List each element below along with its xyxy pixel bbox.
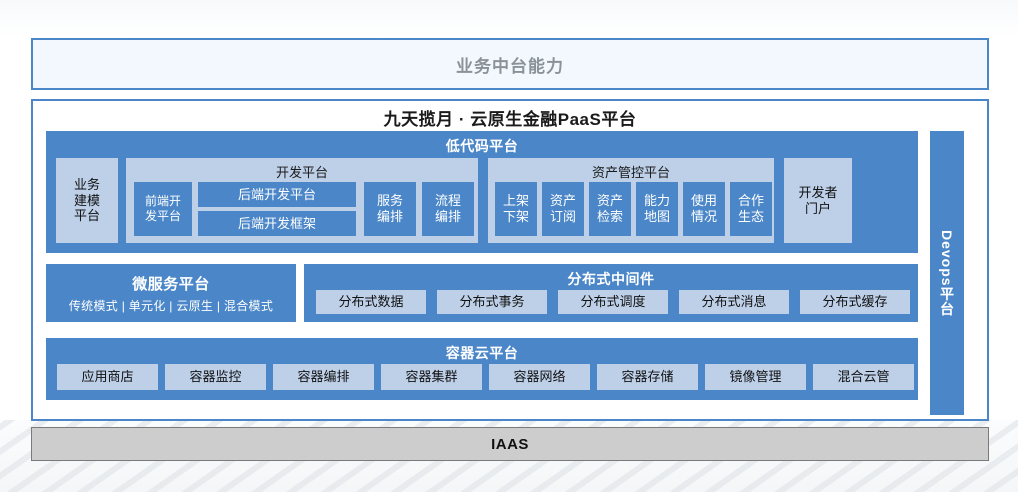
- frontend-dev-line-2: 发平台: [145, 209, 181, 224]
- business-modeling-line-2: 建模: [74, 193, 100, 209]
- container-item-app-store-label: 应用商店: [81, 369, 133, 385]
- frontend-dev-line-1: 前端开: [145, 194, 181, 209]
- asset-item-ecosystem-line-2: 生态: [738, 209, 764, 225]
- business-modeling-line-3: 平台: [74, 208, 100, 224]
- middleware-item-transaction-label: 分布式事务: [459, 294, 524, 310]
- middleware-item-data[interactable]: 分布式数据: [316, 290, 426, 314]
- service-orchestration-box[interactable]: 服务 编排: [364, 182, 416, 236]
- middleware-item-transaction[interactable]: 分布式事务: [437, 290, 547, 314]
- service-orchestration-line-1: 服务: [377, 193, 403, 209]
- container-item-image-management-label: 镜像管理: [729, 369, 781, 385]
- microservice-platform-subtitle: 传统模式 | 单元化 | 云原生 | 混合模式: [69, 297, 273, 314]
- container-item-storage[interactable]: 容器存储: [597, 364, 698, 390]
- devops-platform-bar[interactable]: Devops平台: [930, 131, 964, 415]
- asset-item-ecosystem[interactable]: 合作 生态: [730, 182, 772, 236]
- asset-item-capability-map[interactable]: 能力 地图: [636, 182, 678, 236]
- developer-portal-line-1: 开发者: [798, 185, 837, 201]
- middleware-item-message[interactable]: 分布式消息: [679, 290, 789, 314]
- container-cloud-platform-title: 容器云平台: [46, 343, 918, 363]
- middleware-item-scheduling[interactable]: 分布式调度: [558, 290, 668, 314]
- distributed-middleware-title: 分布式中间件: [304, 269, 918, 289]
- container-item-network-label: 容器网络: [513, 369, 565, 385]
- developer-portal-line-2: 门户: [805, 201, 831, 217]
- backend-dev-platform-box[interactable]: 后端开发平台: [198, 182, 356, 207]
- business-modeling-platform-box[interactable]: 业务 建模 平台: [56, 158, 118, 243]
- middleware-item-cache-label: 分布式缓存: [822, 294, 887, 310]
- middleware-item-cache[interactable]: 分布式缓存: [800, 290, 910, 314]
- frontend-dev-platform-box[interactable]: 前端开 发平台: [134, 182, 192, 236]
- container-item-hybrid-cloud[interactable]: 混合云管: [813, 364, 914, 390]
- developer-portal-box[interactable]: 开发者 门户: [784, 158, 852, 243]
- asset-item-shelf-line-1: 上架: [503, 193, 529, 209]
- asset-item-subscription[interactable]: 资产 订阅: [542, 182, 584, 236]
- container-item-network[interactable]: 容器网络: [489, 364, 590, 390]
- container-item-app-store[interactable]: 应用商店: [57, 364, 158, 390]
- asset-item-usage-line-1: 使用: [691, 193, 717, 209]
- lowcode-platform-title: 低代码平台: [46, 136, 918, 156]
- development-platform-panel: 开发平台 前端开 发平台 后端开发平台 后端开发框架 服务 编排 流程 编排: [126, 158, 478, 243]
- business-middle-platform-banner: 业务中台能力: [31, 38, 989, 90]
- container-item-orchestration[interactable]: 容器编排: [273, 364, 374, 390]
- microservice-platform-section[interactable]: 微服务平台 传统模式 | 单元化 | 云原生 | 混合模式: [46, 264, 296, 322]
- asset-item-usage-line-2: 情况: [691, 209, 717, 225]
- process-orchestration-line-2: 编排: [435, 209, 461, 225]
- process-orchestration-box[interactable]: 流程 编排: [422, 182, 474, 236]
- container-cloud-platform-section: 容器云平台 应用商店 容器监控 容器编排 容器集群 容器网络 容器存储 镜像管理…: [46, 338, 918, 400]
- banner-title: 业务中台能力: [456, 52, 564, 77]
- asset-item-subscription-line-1: 资产: [550, 193, 576, 209]
- business-modeling-line-1: 业务: [74, 177, 100, 193]
- paas-platform-title: 九天揽月 · 云原生金融PaaS平台: [33, 105, 987, 131]
- iaas-layer: IAAS: [31, 427, 989, 461]
- asset-management-platform-title: 资产管控平台: [488, 162, 774, 181]
- middleware-item-scheduling-label: 分布式调度: [580, 294, 645, 310]
- asset-item-shelf[interactable]: 上架 下架: [495, 182, 537, 236]
- asset-item-search-line-2: 检索: [597, 209, 623, 225]
- asset-item-capability-map-line-2: 地图: [644, 209, 670, 225]
- backend-dev-framework-box[interactable]: 后端开发框架: [198, 211, 356, 236]
- middleware-item-data-label: 分布式数据: [338, 294, 403, 310]
- diagram-stage: 业务中台能力 九天揽月 · 云原生金融PaaS平台 Devops平台 低代码平台…: [0, 0, 1018, 492]
- devops-platform-label: Devops平台: [937, 230, 957, 317]
- microservice-platform-title: 微服务平台: [132, 273, 210, 294]
- development-platform-title: 开发平台: [126, 162, 478, 181]
- asset-management-platform-panel: 资产管控平台 上架 下架 资产 订阅 资产 检索 能力 地图 使用 情况: [488, 158, 774, 243]
- container-item-storage-label: 容器存储: [621, 369, 673, 385]
- process-orchestration-line-1: 流程: [435, 193, 461, 209]
- asset-item-ecosystem-line-1: 合作: [738, 193, 764, 209]
- asset-item-shelf-line-2: 下架: [503, 209, 529, 225]
- iaas-label: IAAS: [491, 436, 529, 453]
- service-orchestration-line-2: 编排: [377, 209, 403, 225]
- backend-dev-framework-label: 后端开发框架: [238, 216, 316, 232]
- middleware-item-message-label: 分布式消息: [701, 294, 766, 310]
- lowcode-platform-section: 低代码平台 业务 建模 平台 开发平台 前端开 发平台 后端开发平台 后端开发框…: [46, 131, 918, 253]
- container-item-cluster-label: 容器集群: [405, 369, 457, 385]
- container-item-monitoring[interactable]: 容器监控: [165, 364, 266, 390]
- asset-item-usage[interactable]: 使用 情况: [683, 182, 725, 236]
- asset-item-subscription-line-2: 订阅: [550, 209, 576, 225]
- container-item-image-management[interactable]: 镜像管理: [705, 364, 806, 390]
- container-item-hybrid-cloud-label: 混合云管: [837, 369, 889, 385]
- distributed-middleware-section: 分布式中间件 分布式数据 分布式事务 分布式调度 分布式消息 分布式缓存: [304, 264, 918, 322]
- container-item-monitoring-label: 容器监控: [189, 369, 241, 385]
- asset-item-search-line-1: 资产: [597, 193, 623, 209]
- backend-dev-platform-label: 后端开发平台: [238, 187, 316, 203]
- asset-item-capability-map-line-1: 能力: [644, 193, 670, 209]
- container-item-orchestration-label: 容器编排: [297, 369, 349, 385]
- asset-item-search[interactable]: 资产 检索: [589, 182, 631, 236]
- container-item-cluster[interactable]: 容器集群: [381, 364, 482, 390]
